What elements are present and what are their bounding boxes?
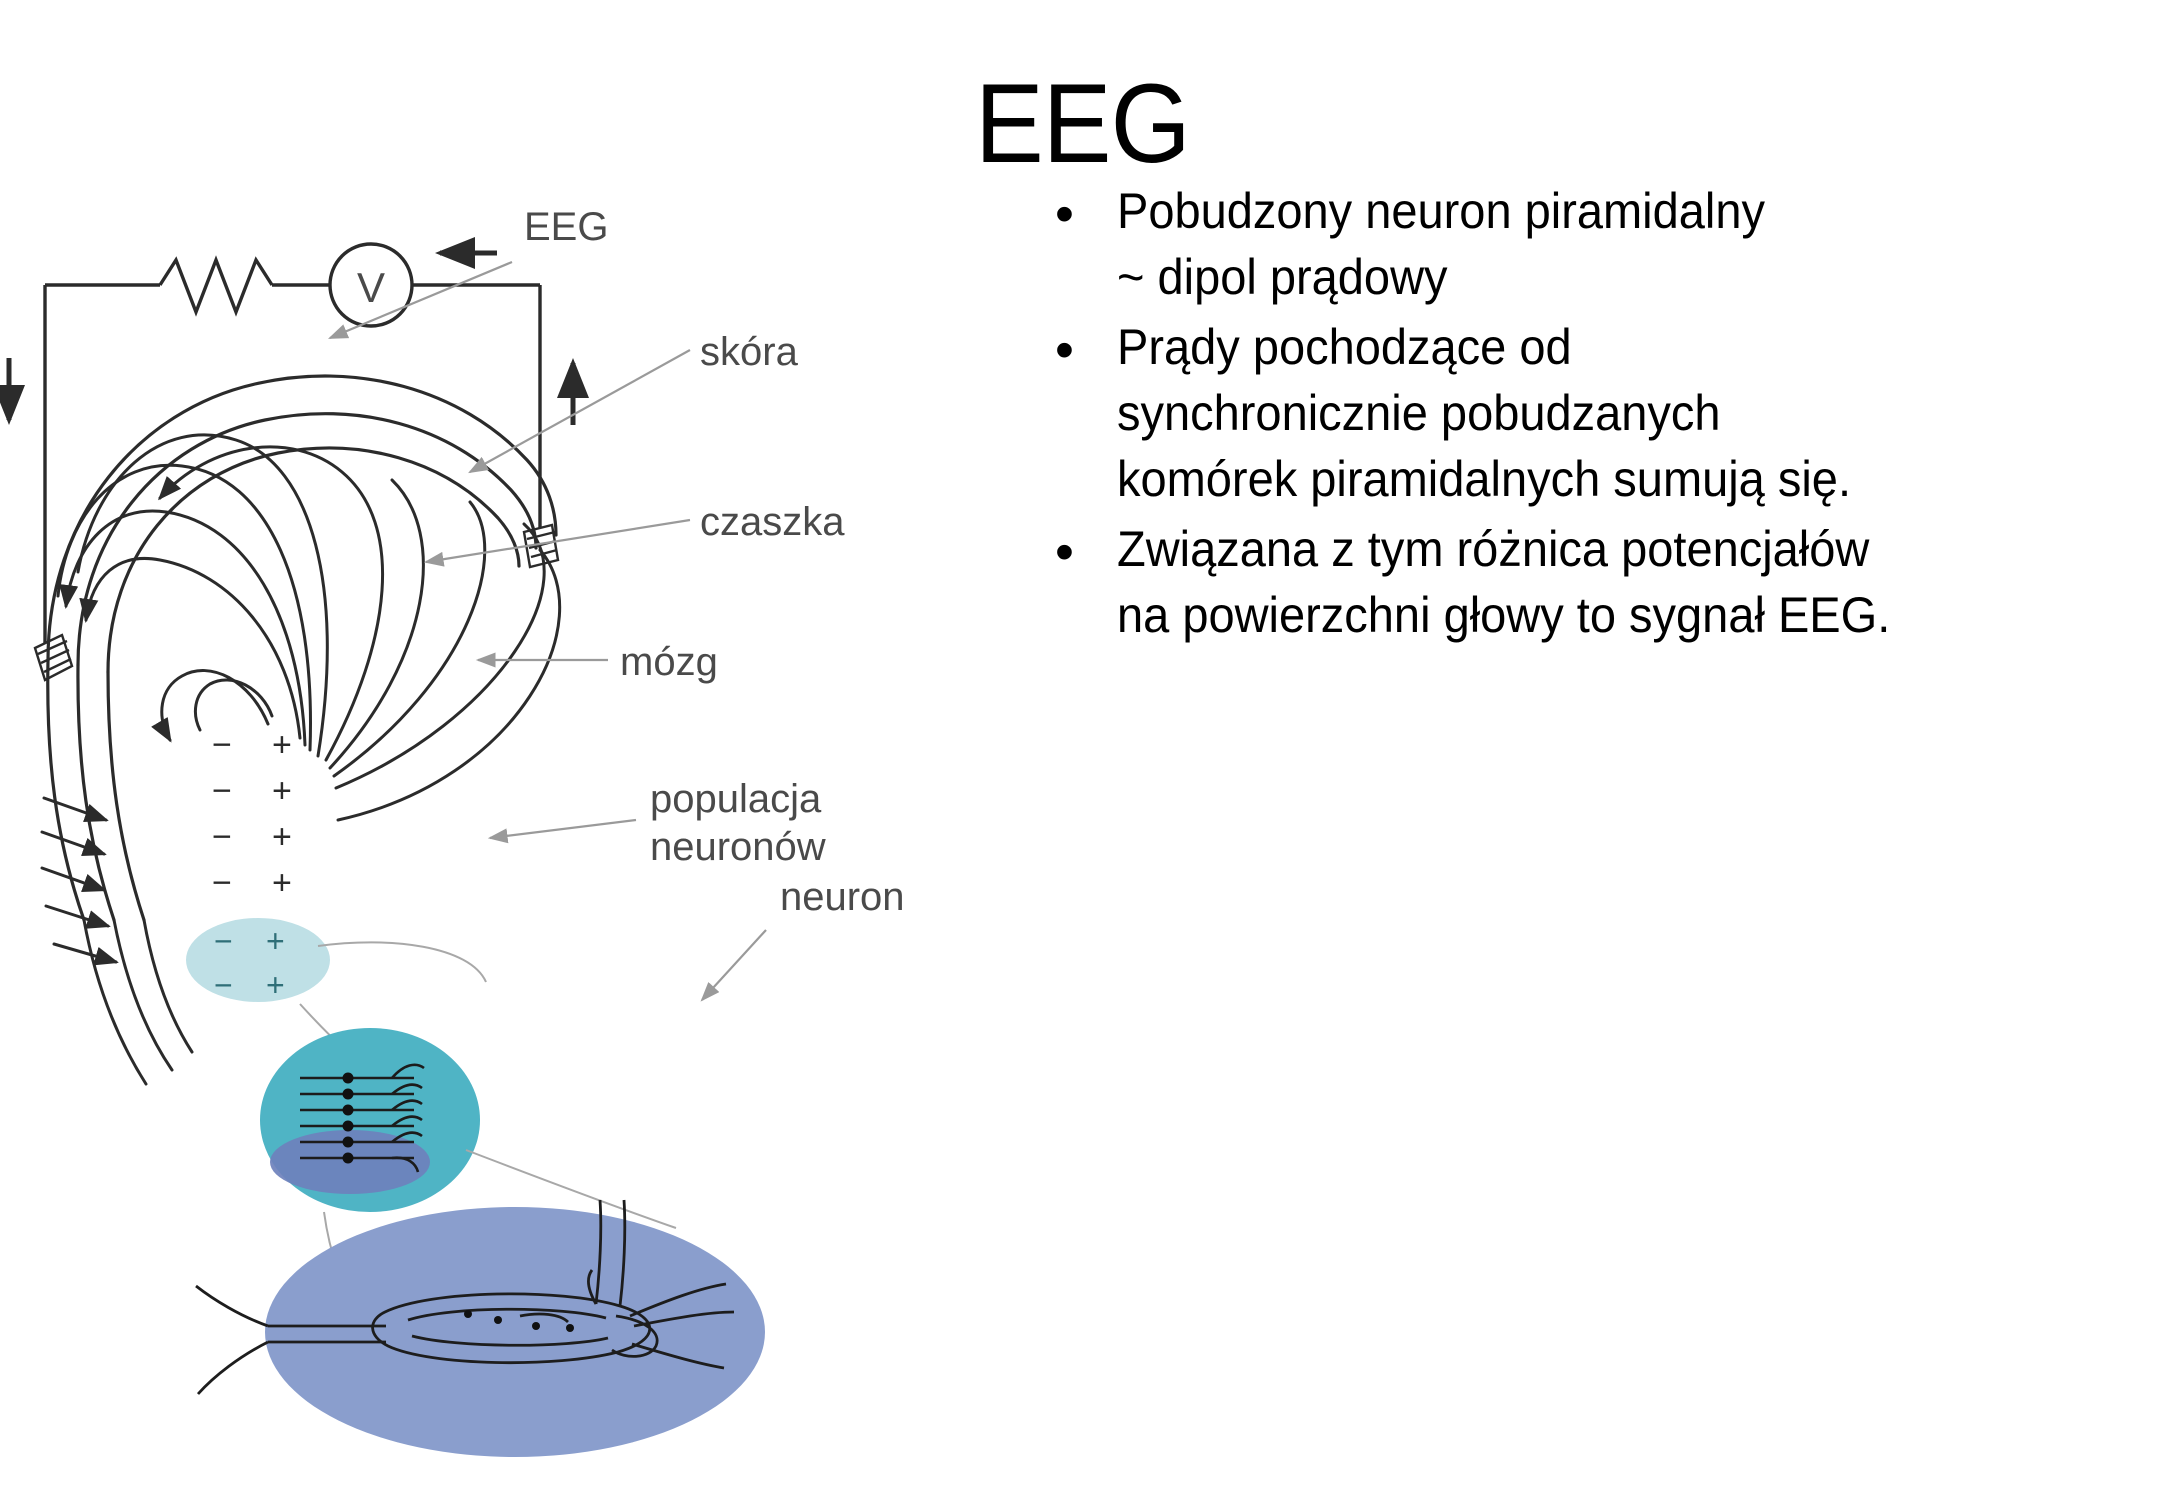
exit-arrow-5 (54, 944, 116, 962)
dipole-positive: + (272, 818, 292, 856)
skull-inner-lower (108, 672, 144, 920)
bullet-list: • Pobudzony neuron piramidalny ~ dipol p… (1055, 178, 2160, 652)
dipole-positive: + (272, 772, 292, 810)
figure-label-populacja-2: neuronów (650, 825, 826, 869)
figure-label-mozg: mózg (620, 640, 718, 684)
head-layers (48, 376, 556, 920)
resistor-symbol (160, 260, 272, 312)
bullet-text: Prądy pochodzące od synchronicznie pobud… (1117, 314, 2097, 512)
bullet-marker-icon: • (1055, 314, 1117, 382)
bullet-text: Pobudzony neuron piramidalny ~ dipol prą… (1117, 178, 2097, 310)
figure-label-eeg: EEG (524, 205, 608, 249)
bullet-line: Pobudzony neuron piramidalny (1117, 178, 2097, 244)
bullet-line: synchronicznie pobudzanych (1117, 380, 2097, 446)
exit-arrow-4 (46, 906, 108, 926)
field-line-inner-2 (195, 680, 272, 730)
bullet-marker-icon: • (1055, 516, 1117, 584)
eeg-diagram-svg: V (0, 120, 1010, 1496)
current-exit-arrows (42, 798, 116, 962)
list-item: • Pobudzony neuron piramidalny ~ dipol p… (1055, 178, 2160, 310)
figure-label-neuron: neuron (780, 875, 905, 919)
bullet-text: Związana z tym różnica potencjałów na po… (1117, 516, 2097, 648)
lower-field-lines (84, 920, 192, 1084)
population-circle (260, 1028, 480, 1212)
voltmeter: V (330, 244, 412, 326)
dipole-positive: + (272, 864, 292, 902)
bullet-line: na powierzchni głowy to sygnał EEG. (1117, 582, 2097, 648)
dipole-negative: − (212, 772, 232, 810)
dipole-charges: − − − − + + + + (212, 726, 292, 902)
figure-label-skora: skóra (700, 330, 799, 374)
bullet-marker-icon: • (1055, 178, 1117, 246)
list-item: • Prądy pochodzące od synchronicznie pob… (1055, 314, 2160, 512)
dipole-negative: − (212, 818, 232, 856)
bullet-line: ~ dipol prądowy (1117, 244, 2097, 310)
leader-skora (470, 350, 690, 472)
single-neuron-ellipse (196, 1200, 765, 1457)
leader-neuron (702, 930, 766, 1000)
electrode-left (35, 635, 72, 680)
dipole-positive: + (272, 726, 292, 764)
dipole-negative: − (212, 726, 232, 764)
current-field-lines (58, 435, 560, 820)
leader-populacja (490, 820, 636, 838)
list-item: • Związana z tym różnica potencjałów na … (1055, 516, 2160, 648)
eeg-diagram: V (0, 120, 1010, 1496)
dipole-highlight: − + − + (186, 918, 330, 1003)
dipole-positive: + (266, 967, 285, 1003)
dipole-negative: − (212, 864, 232, 902)
bullet-line: Związana z tym różnica potencjałów (1117, 516, 2097, 582)
exit-arrow-1 (44, 798, 106, 820)
field-line-1 (86, 558, 300, 738)
figure-label-czaszka: czaszka (700, 500, 845, 544)
dipole-negative: − (214, 967, 233, 1003)
skull-inner (108, 448, 519, 672)
field-line-9 (338, 550, 560, 820)
field-line-3 (58, 465, 311, 750)
dipole-negative: − (214, 923, 233, 959)
current-direction-arrows (9, 253, 573, 425)
bullet-line: Prądy pochodzące od (1117, 314, 2097, 380)
dipole-positive: + (266, 923, 285, 959)
bullet-line: komórek piramidalnych sumują się. (1117, 446, 2097, 512)
voltmeter-symbol: V (357, 264, 385, 311)
figure-label-populacja-1: populacja (650, 777, 822, 821)
